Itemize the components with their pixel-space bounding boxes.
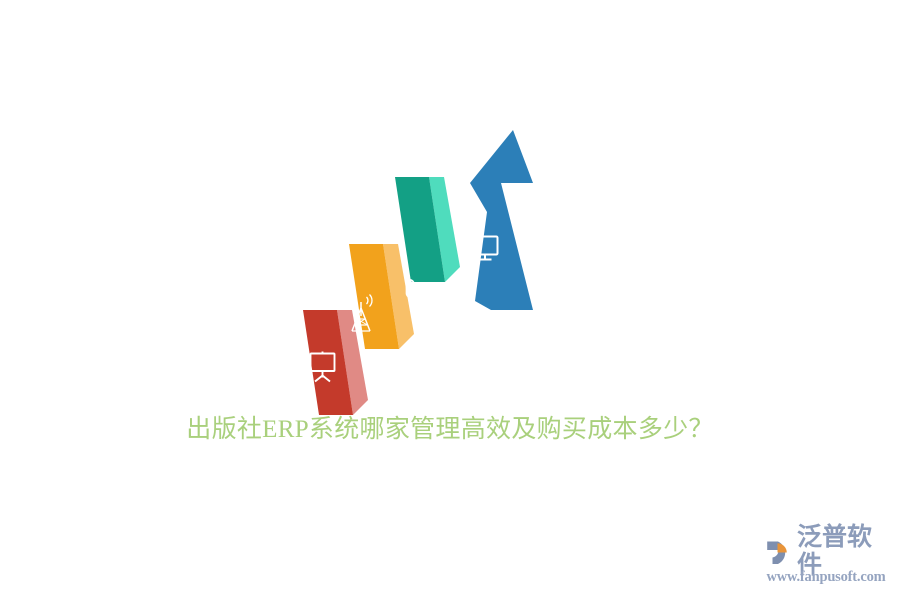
watermark-brand-row: 泛普软件: [760, 534, 892, 570]
watermark-logo: 泛普软件 www.fanpusoft.com: [760, 534, 892, 592]
arrow-segment-red: [303, 310, 368, 415]
blue-arrow-body: [470, 130, 533, 310]
page-title: 出版社ERP系统哪家管理高效及购买成本多少？: [0, 413, 900, 447]
fanpusoft-logo-icon: [764, 537, 794, 567]
arrow-segment-orange: [349, 244, 414, 349]
arrow-segment-blue: [470, 130, 533, 310]
arrow-illustration: [290, 118, 550, 423]
hero-graphic: [290, 118, 550, 423]
watermark-url-text: www.fanpusoft.com: [760, 569, 892, 586]
promo-banner: { "canvas": { "width": 900, "height": 60…: [0, 0, 900, 600]
